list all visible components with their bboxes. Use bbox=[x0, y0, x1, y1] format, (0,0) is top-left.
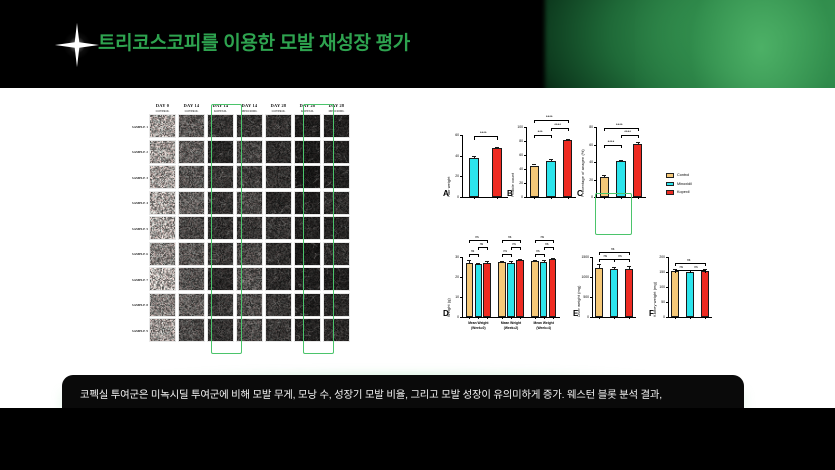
y-tick-mark bbox=[666, 317, 668, 318]
y-tick-mark bbox=[460, 156, 462, 157]
sig-label-ns: ns bbox=[618, 254, 621, 258]
trichoscopy-cell[interactable] bbox=[264, 165, 293, 191]
slide-root: 트리코스코피를 이용한 모발 재성장 평가 DAY 0 CONTROL DAY … bbox=[0, 0, 835, 470]
trichoscopy-cell[interactable] bbox=[206, 267, 235, 293]
trichoscopy-cell[interactable] bbox=[177, 114, 206, 140]
trichoscopy-image bbox=[149, 140, 176, 164]
sig-bracket-tick bbox=[551, 135, 552, 138]
caption-line-1: 코펙실 투여군은 미녹시딜 투여군에 비해 모발 무게, 모낭 수, 성장기 모… bbox=[80, 386, 726, 405]
table-row: SAMPLE 5 bbox=[118, 216, 351, 242]
column-header-2: DAY 14 KOPEXIL bbox=[206, 103, 235, 114]
trichoscopy-image bbox=[207, 140, 234, 164]
sig-label-ns: ns bbox=[475, 235, 478, 239]
trichoscopy-cell[interactable] bbox=[148, 267, 177, 293]
x-tick-mark bbox=[535, 317, 536, 319]
trichoscopy-cell[interactable] bbox=[322, 114, 351, 140]
column-header-5: DAY 28 KOPEXIL bbox=[293, 103, 322, 114]
bar bbox=[701, 271, 709, 317]
panel-letter-e: E bbox=[573, 309, 578, 318]
trichoscopy-cell[interactable] bbox=[235, 267, 264, 293]
y-tick-mark bbox=[666, 302, 668, 303]
y-tick-label: 200 bbox=[653, 255, 665, 259]
sig-bracket-tick bbox=[599, 259, 600, 262]
legend-label-kopexil: Kopexil bbox=[677, 190, 689, 194]
sig-bracket-tick bbox=[544, 254, 545, 257]
trichoscopy-image bbox=[265, 114, 292, 138]
sig-bracket-tick bbox=[599, 252, 600, 255]
trichoscopy-cell[interactable] bbox=[322, 318, 351, 344]
y-tick-mark bbox=[590, 297, 592, 298]
sig-bracket-d-2-a bbox=[535, 254, 544, 255]
trichoscopy-cell[interactable] bbox=[148, 293, 177, 319]
trichoscopy-image bbox=[265, 293, 292, 317]
trichoscopy-image bbox=[178, 114, 205, 138]
sig-bracket-tick bbox=[478, 254, 479, 257]
sig-label-ns: ns bbox=[604, 254, 607, 258]
legend-item-kopexil: Kopexil bbox=[666, 190, 692, 195]
sample-row-label: SAMPLE 3 bbox=[118, 165, 148, 191]
trichoscopy-cell[interactable] bbox=[322, 293, 351, 319]
trichoscopy-image bbox=[236, 165, 263, 189]
x-tick-mark bbox=[474, 197, 475, 199]
y-tick-mark bbox=[594, 162, 596, 163]
trichoscopy-image bbox=[294, 267, 321, 291]
trichoscopy-cell[interactable] bbox=[206, 191, 235, 217]
sig-label-ns: ns bbox=[541, 235, 544, 239]
table-row: SAMPLE 3 bbox=[118, 165, 351, 191]
trichoscopy-image bbox=[323, 165, 350, 189]
bar bbox=[469, 158, 479, 197]
sig-bracket-tick bbox=[675, 270, 676, 273]
trichoscopy-cell[interactable] bbox=[322, 191, 351, 217]
trichoscopy-image bbox=[207, 114, 234, 138]
sig-bracket-tick bbox=[675, 263, 676, 266]
trichoscopy-image bbox=[178, 140, 205, 164]
error-bar-cap bbox=[476, 263, 480, 264]
sig-label-stars: **** bbox=[616, 123, 623, 127]
trichoscopy-cell[interactable] bbox=[235, 165, 264, 191]
sig-label-stars: **** bbox=[554, 123, 561, 127]
y-axis-c bbox=[596, 127, 597, 197]
trichoscopy-cell[interactable] bbox=[148, 216, 177, 242]
trichoscopy-cell[interactable] bbox=[206, 140, 235, 166]
trichoscopy-cell[interactable] bbox=[322, 216, 351, 242]
trichoscopy-image bbox=[178, 293, 205, 317]
header-green-gradient-inner bbox=[635, 0, 835, 88]
trichoscopy-cell[interactable] bbox=[206, 293, 235, 319]
trichoscopy-table: DAY 0 CONTROL DAY 14 CONTROL DAY 14 KOPE… bbox=[118, 103, 351, 344]
trichoscopy-image bbox=[265, 191, 292, 215]
sig-bracket-a-0 bbox=[474, 136, 497, 137]
sig-bracket-e-1 bbox=[614, 259, 629, 260]
trichoscopy-cell[interactable] bbox=[148, 165, 177, 191]
sig-bracket-e-2 bbox=[599, 252, 628, 253]
x-group-label-line2: (Week=0) bbox=[462, 326, 495, 331]
x-tick-mark bbox=[520, 317, 521, 319]
trichoscopy-image bbox=[294, 114, 321, 138]
y-tick-mark bbox=[460, 317, 462, 318]
sig-bracket-c-2 bbox=[604, 128, 637, 129]
trichoscopy-image bbox=[207, 267, 234, 291]
trichoscopy-image bbox=[178, 191, 205, 215]
y-tick-mark bbox=[594, 145, 596, 146]
trichoscopy-image bbox=[265, 165, 292, 189]
x-tick-mark bbox=[544, 317, 545, 319]
charts-figure: 0204060Hair weightA****020406080100Folli… bbox=[440, 105, 740, 360]
sig-bracket-d-0-c bbox=[469, 240, 487, 241]
x-tick-mark bbox=[599, 317, 600, 319]
bar bbox=[625, 269, 633, 317]
trichoscopy-cell[interactable] bbox=[293, 267, 322, 293]
trichoscopy-cell[interactable] bbox=[148, 318, 177, 344]
sig-bracket-tick bbox=[534, 135, 535, 138]
trichoscopy-cell[interactable] bbox=[235, 140, 264, 166]
trichoscopy-cell[interactable] bbox=[293, 216, 322, 242]
sig-label-ns: ns bbox=[687, 258, 690, 262]
trichoscopy-cell[interactable] bbox=[293, 318, 322, 344]
trichoscopy-image bbox=[207, 318, 234, 342]
trichoscopy-cell[interactable] bbox=[293, 242, 322, 268]
x-tick-mark bbox=[487, 317, 488, 319]
trichoscopy-image bbox=[265, 267, 292, 291]
sig-bracket-tick bbox=[568, 128, 569, 131]
x-tick-mark bbox=[497, 197, 498, 199]
sig-label-stars: **** bbox=[608, 140, 615, 144]
column-header-0: DAY 0 CONTROL bbox=[148, 103, 177, 114]
trichoscopy-image bbox=[236, 242, 263, 266]
x-tick-mark bbox=[511, 317, 512, 319]
panel-letter-f: F bbox=[649, 309, 654, 318]
y-tick-label: 60 bbox=[447, 133, 459, 137]
trichoscopy-cell[interactable] bbox=[177, 267, 206, 293]
x-group-label-line2: (Week=2) bbox=[495, 326, 528, 331]
trichoscopy-body: SAMPLE 1SAMPLE 2SAMPLE 3SAMPLE 4SAMPLE 5… bbox=[118, 114, 351, 344]
trichoscopy-cell[interactable] bbox=[293, 114, 322, 140]
sig-bracket-tick bbox=[629, 252, 630, 255]
trichoscopy-cell[interactable] bbox=[206, 242, 235, 268]
slide-footer-band bbox=[0, 408, 835, 470]
sig-label-stars: **** bbox=[624, 130, 631, 134]
trichoscopy-image bbox=[149, 165, 176, 189]
corner-cell bbox=[118, 103, 148, 114]
sig-bracket-d-1-a bbox=[502, 254, 511, 255]
trichoscopy-cell[interactable] bbox=[148, 114, 177, 140]
trichoscopy-cell[interactable] bbox=[293, 191, 322, 217]
bar bbox=[540, 262, 548, 317]
trichoscopy-image bbox=[294, 318, 321, 342]
x-tick-mark bbox=[478, 317, 479, 319]
bar bbox=[466, 263, 474, 317]
trichoscopy-cell[interactable] bbox=[235, 293, 264, 319]
bar bbox=[633, 144, 642, 197]
trichoscopy-cell[interactable] bbox=[322, 140, 351, 166]
y-tick-mark bbox=[524, 197, 526, 198]
legend-label-minoxidil: Minoxidil bbox=[677, 182, 692, 186]
trichoscopy-cell[interactable] bbox=[322, 242, 351, 268]
bar bbox=[671, 271, 679, 317]
trichoscopy-cell[interactable] bbox=[235, 114, 264, 140]
trichoscopy-image bbox=[178, 267, 205, 291]
trichoscopy-cell[interactable] bbox=[177, 165, 206, 191]
bar bbox=[549, 259, 557, 317]
x-group-label: Mean Weight(Week=4) bbox=[527, 321, 560, 330]
y-tick-mark bbox=[524, 127, 526, 128]
trichoscopy-cell[interactable] bbox=[177, 216, 206, 242]
y-axis-e bbox=[592, 257, 593, 317]
trichoscopy-image bbox=[149, 267, 176, 291]
sig-bracket-c-0 bbox=[604, 145, 621, 146]
sample-row-label: SAMPLE 5 bbox=[118, 216, 148, 242]
sample-row-label: SAMPLE 6 bbox=[118, 242, 148, 268]
highlight-box-chart-c-control bbox=[595, 193, 632, 235]
sig-bracket-tick bbox=[553, 247, 554, 250]
y-tick-mark bbox=[590, 257, 592, 258]
y-tick-mark bbox=[524, 169, 526, 170]
trichoscopy-image bbox=[236, 318, 263, 342]
y-tick-label: 1000 bbox=[577, 275, 589, 279]
trichoscopy-image bbox=[294, 216, 321, 240]
trichoscopy-cell[interactable] bbox=[264, 318, 293, 344]
trichoscopy-cell[interactable] bbox=[177, 191, 206, 217]
sig-bracket-f-0 bbox=[675, 270, 690, 271]
sig-bracket-tick bbox=[474, 136, 475, 139]
sig-bracket-tick bbox=[705, 270, 706, 273]
sig-bracket-tick bbox=[621, 135, 622, 138]
page-title: 트리코스코피를 이용한 모발 재성장 평가 bbox=[98, 28, 410, 55]
error-bar-cap bbox=[485, 261, 489, 262]
sig-bracket-tick bbox=[621, 145, 622, 148]
trichoscopy-cell[interactable] bbox=[177, 293, 206, 319]
trichoscopy-cell[interactable] bbox=[322, 267, 351, 293]
x-tick-mark bbox=[614, 317, 615, 319]
sample-row-label: SAMPLE 4 bbox=[118, 191, 148, 217]
legend-item-minoxidil: Minoxidil bbox=[666, 182, 692, 187]
trichoscopy-cell[interactable] bbox=[148, 140, 177, 166]
trichoscopy-image bbox=[323, 114, 350, 138]
x-tick-mark bbox=[551, 197, 552, 199]
sig-bracket-tick bbox=[535, 254, 536, 257]
table-row: SAMPLE 7 bbox=[118, 267, 351, 293]
bar bbox=[492, 148, 502, 197]
error-bar-cap bbox=[509, 261, 513, 262]
trichoscopy-cell[interactable] bbox=[177, 318, 206, 344]
trichoscopy-cell[interactable] bbox=[293, 165, 322, 191]
trichoscopy-cell[interactable] bbox=[206, 216, 235, 242]
bar bbox=[546, 161, 555, 197]
trichoscopy-image bbox=[236, 114, 263, 138]
y-tick-mark bbox=[460, 176, 462, 177]
sample-row-label: SAMPLE 8 bbox=[118, 293, 148, 319]
sig-bracket-tick bbox=[629, 259, 630, 262]
trichoscopy-image bbox=[207, 216, 234, 240]
x-tick-mark bbox=[638, 197, 639, 199]
table-row: SAMPLE 4 bbox=[118, 191, 351, 217]
trichoscopy-image bbox=[294, 293, 321, 317]
sig-bracket-d-2-c bbox=[535, 240, 553, 241]
error-bar-cap bbox=[619, 160, 623, 161]
panel-letter-d: D bbox=[443, 309, 449, 318]
x-tick-mark bbox=[705, 317, 706, 319]
trichoscopy-cell[interactable] bbox=[264, 267, 293, 293]
trichoscopy-image bbox=[236, 191, 263, 215]
trichoscopy-image bbox=[178, 216, 205, 240]
bar bbox=[686, 272, 694, 317]
trichoscopy-image bbox=[236, 267, 263, 291]
trichoscopy-image-grid: DAY 0 CONTROL DAY 14 CONTROL DAY 14 KOPE… bbox=[118, 103, 360, 358]
trichoscopy-cell[interactable] bbox=[264, 242, 293, 268]
trichoscopy-cell[interactable] bbox=[148, 242, 177, 268]
trichoscopy-cell[interactable] bbox=[235, 242, 264, 268]
trichoscopy-image bbox=[149, 114, 176, 138]
x-tick-mark bbox=[629, 317, 630, 319]
trichoscopy-image bbox=[323, 191, 350, 215]
trichoscopy-cell[interactable] bbox=[206, 165, 235, 191]
trichoscopy-image bbox=[149, 242, 176, 266]
sig-bracket-d-0-b bbox=[478, 247, 487, 248]
sig-bracket-b-0 bbox=[534, 135, 551, 136]
y-tick-mark bbox=[594, 180, 596, 181]
sig-bracket-tick bbox=[614, 259, 615, 262]
y-tick-label: 80 bbox=[581, 125, 593, 129]
error-bar-cap bbox=[500, 261, 504, 262]
sig-bracket-tick bbox=[497, 136, 498, 139]
trichoscopy-image bbox=[236, 140, 263, 164]
trichoscopy-cell[interactable] bbox=[293, 293, 322, 319]
trichoscopy-image bbox=[149, 293, 176, 317]
error-bar-cap bbox=[627, 266, 631, 267]
sig-bracket-tick bbox=[690, 270, 691, 273]
sig-bracket-tick bbox=[502, 240, 503, 243]
bar bbox=[595, 268, 603, 317]
trichoscopy-cell[interactable] bbox=[293, 140, 322, 166]
sig-bracket-b-2 bbox=[534, 120, 567, 121]
x-tick-mark bbox=[568, 197, 569, 199]
y-tick-label: 60 bbox=[511, 153, 523, 157]
trichoscopy-image bbox=[323, 242, 350, 266]
sig-bracket-d-0-a bbox=[469, 254, 478, 255]
trichoscopy-cell[interactable] bbox=[264, 216, 293, 242]
trichoscopy-image bbox=[323, 216, 350, 240]
trichoscopy-cell[interactable] bbox=[177, 242, 206, 268]
sig-label-ns: ns bbox=[504, 249, 507, 253]
bar bbox=[483, 263, 491, 317]
sig-bracket-tick bbox=[568, 120, 569, 123]
trichoscopy-cell[interactable] bbox=[264, 191, 293, 217]
sample-row-label: SAMPLE 7 bbox=[118, 267, 148, 293]
trichoscopy-image bbox=[323, 293, 350, 317]
x-tick-mark bbox=[469, 317, 470, 319]
bar bbox=[516, 260, 524, 317]
sig-bracket-f-1 bbox=[690, 270, 705, 271]
trichoscopy-image bbox=[207, 242, 234, 266]
bar bbox=[563, 140, 572, 197]
y-tick-label: 30 bbox=[447, 255, 459, 259]
sig-bracket-tick bbox=[478, 247, 479, 250]
trichoscopy-image bbox=[207, 165, 234, 189]
sig-bracket-tick bbox=[487, 240, 488, 243]
y-tick-mark bbox=[524, 141, 526, 142]
trichoscopy-image bbox=[265, 216, 292, 240]
x-tick-mark bbox=[690, 317, 691, 319]
error-bar-cap bbox=[495, 147, 499, 148]
error-bar-cap bbox=[532, 164, 536, 165]
trichoscopy-cell[interactable] bbox=[206, 318, 235, 344]
trichoscopy-cell[interactable] bbox=[177, 140, 206, 166]
trichoscopy-cell[interactable] bbox=[235, 216, 264, 242]
y-tick-mark bbox=[666, 257, 668, 258]
trichoscopy-cell[interactable] bbox=[235, 191, 264, 217]
error-bar-cap bbox=[549, 159, 553, 160]
y-tick-label: 40 bbox=[447, 154, 459, 158]
legend-swatch-minoxidil bbox=[666, 182, 674, 187]
y-tick-label: 1500 bbox=[577, 255, 589, 259]
sig-bracket-tick bbox=[502, 254, 503, 257]
trichoscopy-image bbox=[236, 293, 263, 317]
sig-label-ns: ns bbox=[512, 242, 515, 246]
trichoscopy-cell[interactable] bbox=[264, 140, 293, 166]
x-tick-mark bbox=[553, 317, 554, 319]
y-tick-mark bbox=[460, 297, 462, 298]
column-header-3: DAY 14 MINOXIDIL bbox=[235, 103, 264, 114]
trichoscopy-cell[interactable] bbox=[264, 114, 293, 140]
trichoscopy-image bbox=[178, 165, 205, 189]
trichoscopy-image bbox=[178, 318, 205, 342]
y-axis-d bbox=[462, 257, 463, 317]
sig-bracket-tick bbox=[553, 240, 554, 243]
sample-row-label: SAMPLE 9 bbox=[118, 318, 148, 344]
y-tick-label: 100 bbox=[511, 125, 523, 129]
sig-bracket-tick bbox=[551, 128, 552, 131]
error-bar-cap bbox=[566, 139, 570, 140]
y-tick-label: 60 bbox=[581, 143, 593, 147]
trichoscopy-image bbox=[265, 242, 292, 266]
error-bar-cap bbox=[551, 258, 555, 259]
sample-row-label: SAMPLE 1 bbox=[118, 114, 148, 140]
y-tick-mark bbox=[460, 135, 462, 136]
sig-bracket-tick bbox=[511, 247, 512, 250]
sig-bracket-c-1 bbox=[621, 135, 638, 136]
trichoscopy-cell[interactable] bbox=[264, 293, 293, 319]
trichoscopy-cell[interactable] bbox=[206, 114, 235, 140]
sig-label-ns: ns bbox=[480, 242, 483, 246]
error-bar-cap bbox=[467, 260, 471, 261]
column-header-6: DAY 28 MINOXIDIL bbox=[322, 103, 351, 114]
trichoscopy-image bbox=[265, 140, 292, 164]
trichoscopy-cell[interactable] bbox=[322, 165, 351, 191]
sig-bracket-d-2-b bbox=[544, 247, 553, 248]
slide-header: 트리코스코피를 이용한 모발 재성장 평가 bbox=[0, 0, 835, 88]
y-tick-mark bbox=[460, 277, 462, 278]
panel-letter-b: B bbox=[507, 189, 513, 198]
bar bbox=[610, 269, 618, 317]
trichoscopy-cell[interactable] bbox=[148, 191, 177, 217]
x-tick-mark bbox=[675, 317, 676, 319]
sig-bracket-tick bbox=[705, 263, 706, 266]
trichoscopy-image bbox=[149, 318, 176, 342]
trichoscopy-image bbox=[294, 165, 321, 189]
x-axis-a bbox=[462, 197, 508, 198]
y-tick-mark bbox=[460, 257, 462, 258]
x-tick-mark bbox=[502, 317, 503, 319]
y-axis-b bbox=[526, 127, 527, 197]
trichoscopy-image bbox=[149, 216, 176, 240]
sig-bracket-tick bbox=[604, 145, 605, 148]
sig-bracket-tick bbox=[604, 128, 605, 131]
trichoscopy-image bbox=[323, 267, 350, 291]
sig-bracket-d-1-b bbox=[511, 247, 520, 248]
trichoscopy-cell[interactable] bbox=[235, 318, 264, 344]
x-tick-mark bbox=[534, 197, 535, 199]
